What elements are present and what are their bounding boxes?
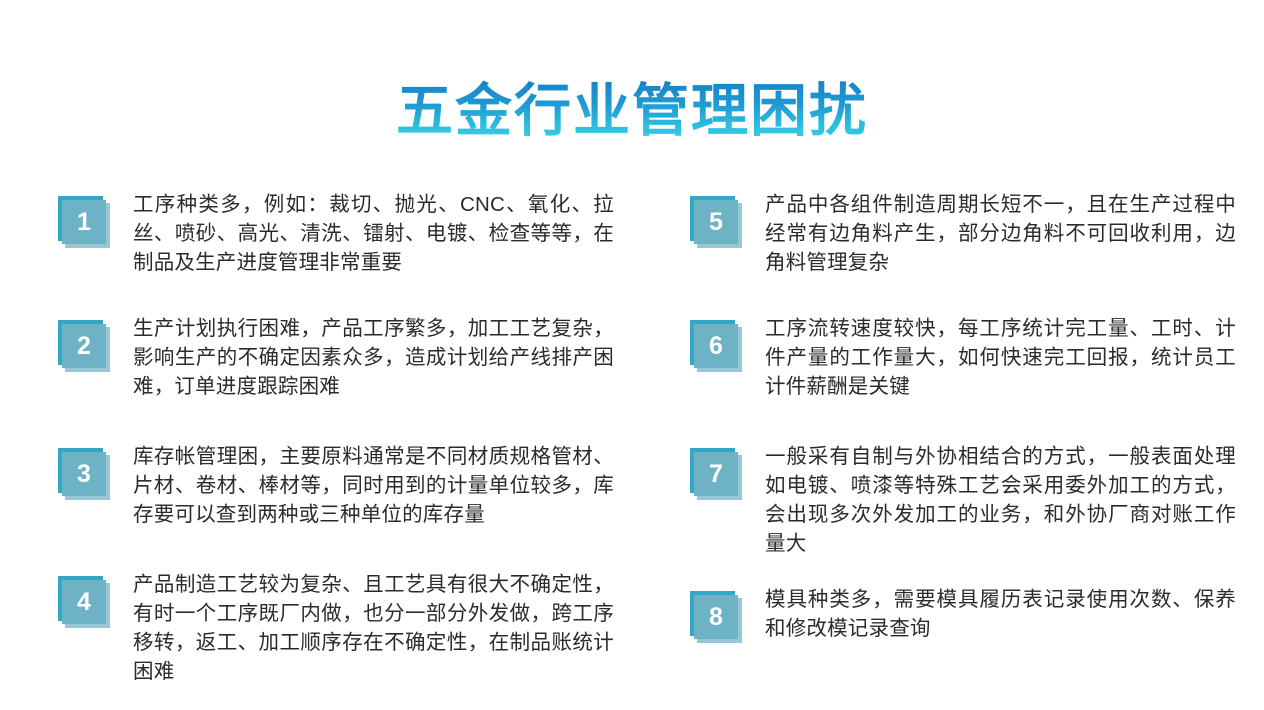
list-item[interactable]: 5 产品中各组件制造周期长短不一，且在生产过程中经常有边角料产生，部分边角料不可…	[690, 190, 1236, 277]
number-badge-3: 3	[58, 448, 110, 500]
list-item-text: 库存帐管理困，主要原料通常是不同材质规格管材、片材、卷材、棒材等，同时用到的计量…	[133, 442, 614, 529]
list-item-text: 模具种类多，需要模具履历表记录使用次数、保养和修改模记录查询	[765, 585, 1236, 643]
badge-front-square-icon: 2	[62, 324, 106, 368]
list-item[interactable]: 8 模具种类多，需要模具履历表记录使用次数、保养和修改模记录查询	[690, 585, 1236, 643]
list-item-text: 工序流转速度较快，每工序统计完工量、工时、计件产量的工作量大，如何快速完工回报，…	[765, 314, 1236, 401]
list-item-text: 产品中各组件制造周期长短不一，且在生产过程中经常有边角料产生，部分边角料不可回收…	[765, 190, 1236, 277]
badge-number: 6	[709, 334, 723, 359]
badge-front-square-icon: 3	[62, 452, 106, 496]
list-item-text: 生产计划执行困难，产品工序繁多，加工工艺复杂，影响生产的不确定因素众多，造成计划…	[133, 314, 614, 401]
badge-number: 4	[77, 590, 91, 615]
badge-number: 7	[709, 462, 723, 487]
number-badge-1: 1	[58, 196, 110, 248]
number-badge-6: 6	[690, 320, 742, 372]
badge-front-square-icon: 5	[694, 200, 738, 244]
badge-number: 8	[709, 605, 723, 630]
list-item-text: 工序种类多，例如：裁切、抛光、CNC、氧化、拉丝、喷砂、高光、清洗、镭射、电镀、…	[133, 190, 614, 277]
number-badge-8: 8	[690, 591, 742, 643]
page-title: 五金行业管理困扰	[396, 80, 868, 144]
number-badge-5: 5	[690, 196, 742, 248]
left-column: 1 工序种类多，例如：裁切、抛光、CNC、氧化、拉丝、喷砂、高光、清洗、镭射、电…	[0, 190, 632, 686]
badge-front-square-icon: 7	[694, 452, 738, 496]
badge-front-square-icon: 4	[62, 580, 106, 624]
list-item[interactable]: 3 库存帐管理困，主要原料通常是不同材质规格管材、片材、卷材、棒材等，同时用到的…	[58, 442, 614, 529]
list-item-text: 一般采有自制与外协相结合的方式，一般表面处理如电镀、喷漆等特殊工艺会采用委外加工…	[765, 442, 1236, 558]
list-item[interactable]: 2 生产计划执行困难，产品工序繁多，加工工艺复杂，影响生产的不确定因素众多，造成…	[58, 314, 614, 401]
badge-number: 5	[709, 210, 723, 235]
number-badge-7: 7	[690, 448, 742, 500]
badge-number: 2	[77, 334, 91, 359]
number-badge-4: 4	[58, 576, 110, 628]
right-column: 5 产品中各组件制造周期长短不一，且在生产过程中经常有边角料产生，部分边角料不可…	[632, 190, 1264, 686]
title-container: 五金行业管理困扰	[0, 42, 1264, 182]
badge-number: 3	[77, 462, 91, 487]
list-item[interactable]: 1 工序种类多，例如：裁切、抛光、CNC、氧化、拉丝、喷砂、高光、清洗、镭射、电…	[58, 190, 614, 277]
badge-front-square-icon: 8	[694, 595, 738, 639]
list-item[interactable]: 4 产品制造工艺较为复杂、且工艺具有很大不确定性，有时一个工序既厂内做，也分一部…	[58, 570, 614, 686]
list-item-text: 产品制造工艺较为复杂、且工艺具有很大不确定性，有时一个工序既厂内做，也分一部分外…	[133, 570, 614, 686]
badge-front-square-icon: 6	[694, 324, 738, 368]
list-item[interactable]: 7 一般采有自制与外协相结合的方式，一般表面处理如电镀、喷漆等特殊工艺会采用委外…	[690, 442, 1236, 558]
badge-front-square-icon: 1	[62, 200, 106, 244]
list-item[interactable]: 6 工序流转速度较快，每工序统计完工量、工时、计件产量的工作量大，如何快速完工回…	[690, 314, 1236, 401]
badge-number: 1	[77, 210, 91, 235]
number-badge-2: 2	[58, 320, 110, 372]
content-columns: 1 工序种类多，例如：裁切、抛光、CNC、氧化、拉丝、喷砂、高光、清洗、镭射、电…	[0, 190, 1264, 686]
slide-canvas: 五金行业管理困扰 1 工序种类多，例如：裁切、抛光、CNC、氧化、拉丝、喷砂、高…	[0, 0, 1264, 710]
